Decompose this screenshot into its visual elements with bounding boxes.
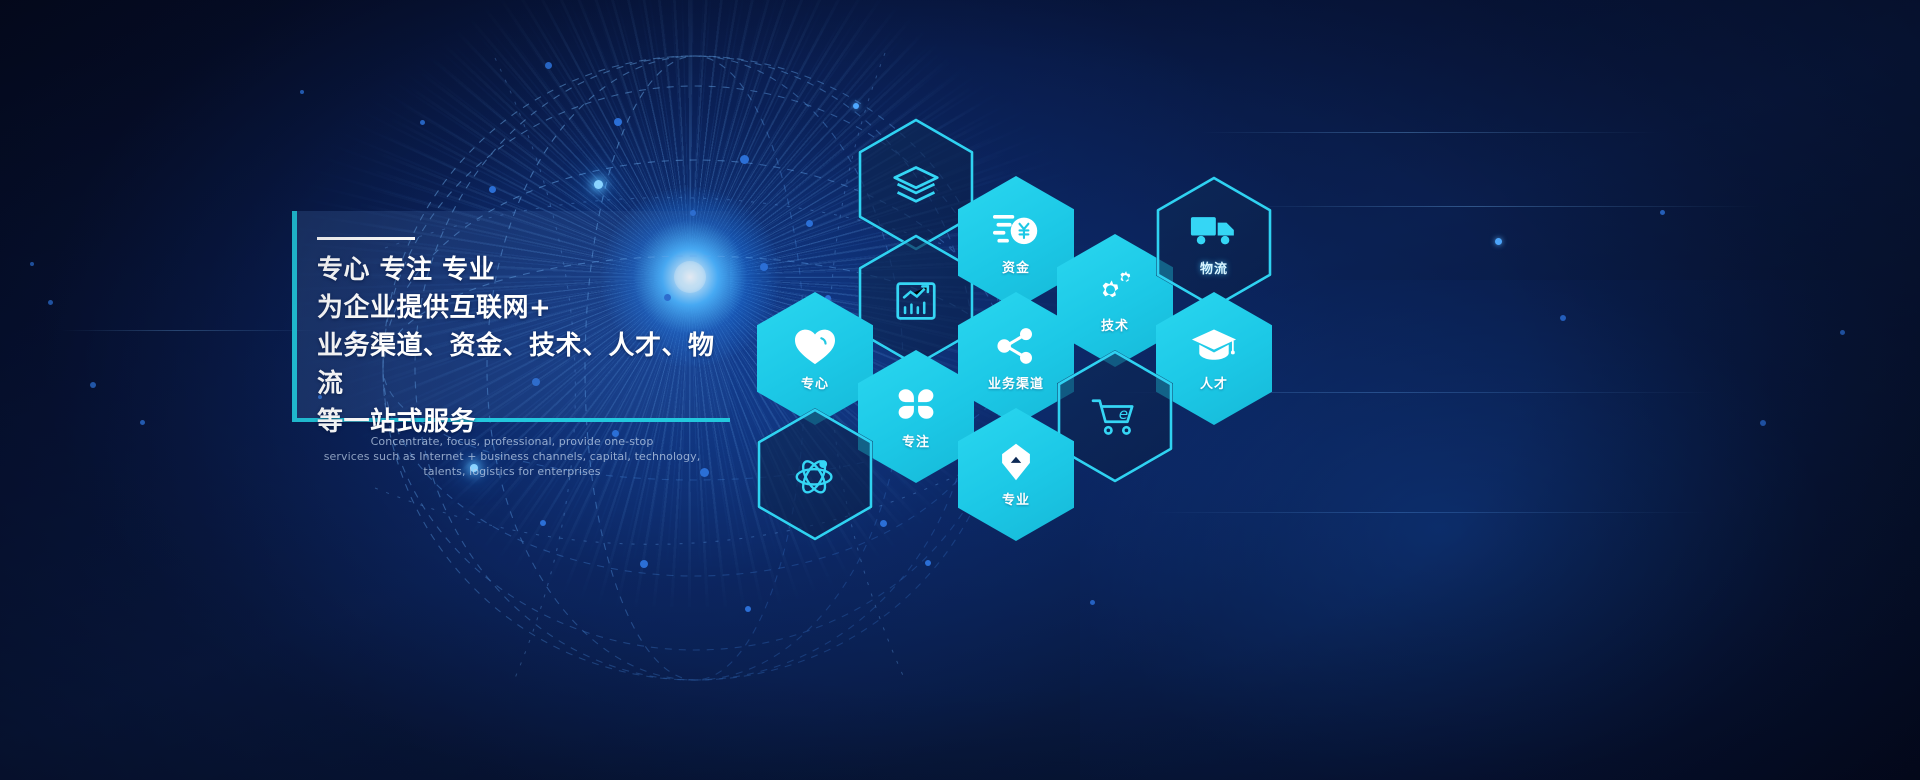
hexagon-body-zhuanxin: 专心 — [757, 292, 873, 425]
hexagon-label-zhuanxin: 专心 — [801, 373, 829, 392]
hexagon-label-zijin: 资金 — [1002, 257, 1030, 276]
hexagon-body-zijin: 资金 — [958, 176, 1074, 309]
hexagon-label-wuliu: 物流 — [1200, 258, 1228, 277]
clover-icon — [893, 384, 939, 424]
hexagon-cluster: 专心资金技术物流 业务渠道人才专注e 专业 — [0, 0, 1920, 780]
hexagon-body-ecommerce: e — [1057, 350, 1173, 483]
graduation-cap-icon — [1191, 326, 1237, 366]
hexagon-body-zhuanzhu: 专注 — [858, 350, 974, 483]
growth-chart-icon — [892, 280, 940, 322]
heart-icon — [792, 326, 838, 366]
layers-icon — [892, 164, 940, 206]
hexagon-body-atom — [757, 408, 873, 541]
money-coin-icon — [993, 210, 1039, 250]
svg-text:e: e — [1119, 404, 1128, 422]
hexagon-body-layers — [858, 118, 974, 251]
hexagon-body-chart — [858, 234, 974, 367]
hexagon-label-rencai: 人才 — [1200, 373, 1228, 392]
diamond-icon — [993, 442, 1039, 482]
hexagon-body-rencai: 人才 — [1156, 292, 1272, 425]
hexagon-body-wuliu: 物流 — [1156, 176, 1272, 309]
hexagon-label-zhuanye: 专业 — [1002, 489, 1030, 508]
hexagon-body-yewuqudao: 业务渠道 — [958, 292, 1074, 425]
gears-icon — [1092, 268, 1138, 308]
hexagon-label-yewuqudao: 业务渠道 — [988, 373, 1044, 392]
hexagon-label-jishu: 技术 — [1101, 315, 1129, 334]
atom-icon — [791, 454, 839, 496]
hexagon-body-jishu: 技术 — [1057, 234, 1173, 367]
truck-icon — [1190, 209, 1238, 251]
shopping-cart-e-icon: e — [1091, 396, 1139, 438]
share-network-icon — [993, 326, 1039, 366]
banner-hero: 专心 专注 专业 为企业提供互联网+ 业务渠道、资金、技术、人才、物流 等一站式… — [0, 0, 1920, 780]
hexagon-body-zhuanye: 专业 — [958, 408, 1074, 541]
hexagon-label-zhuanzhu: 专注 — [902, 431, 930, 450]
